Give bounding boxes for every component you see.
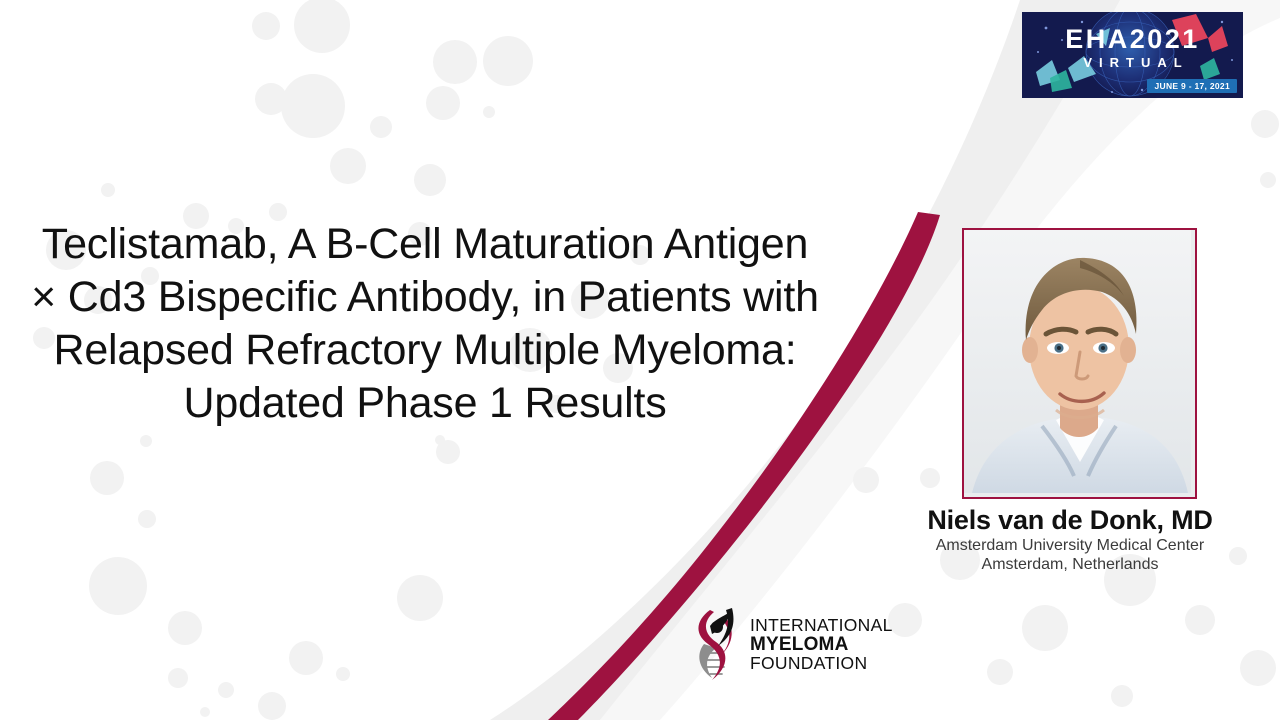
title-line-4: Updated Phase 1 Results [0,377,850,430]
title-line-3: Relapsed Refractory Multiple Myeloma: [0,324,850,377]
title-line-1: Teclistamab, A B-Cell Maturation Antigen [0,218,850,271]
conference-banner-subtitle: VIRTUAL [1022,56,1243,69]
conference-banner-title: EHA2021 [1022,26,1243,53]
conference-banner: EHA2021 VIRTUAL JUNE 9 - 17, 2021 [1022,12,1243,98]
avatar [964,230,1191,493]
speaker-name: Niels van de Donk, MD [860,505,1280,536]
imf-logo: INTERNATIONAL MYELOMA FOUNDATION [688,604,873,684]
presentation-title-slide: EHA2021 VIRTUAL JUNE 9 - 17, 2021 Teclis… [0,0,1280,720]
imf-word-international: INTERNATIONAL [750,616,893,635]
imf-wordmark: INTERNATIONAL MYELOMA FOUNDATION [750,616,893,673]
speaker-affiliation: Amsterdam University Medical Center Amst… [860,536,1280,574]
affiliation-line-1: Amsterdam University Medical Center [860,536,1280,555]
dna-helix-icon [688,604,750,684]
affiliation-line-2: Amsterdam, Netherlands [860,555,1280,574]
presentation-title: Teclistamab, A B-Cell Maturation Antigen… [0,218,850,430]
speaker-portrait [962,228,1197,499]
conference-banner-dates: JUNE 9 - 17, 2021 [1147,79,1237,94]
imf-word-foundation: FOUNDATION [750,654,893,673]
title-line-2: × Cd3 Bispecific Antibody, in Patients w… [0,271,850,324]
imf-word-myeloma: MYELOMA [750,635,893,654]
